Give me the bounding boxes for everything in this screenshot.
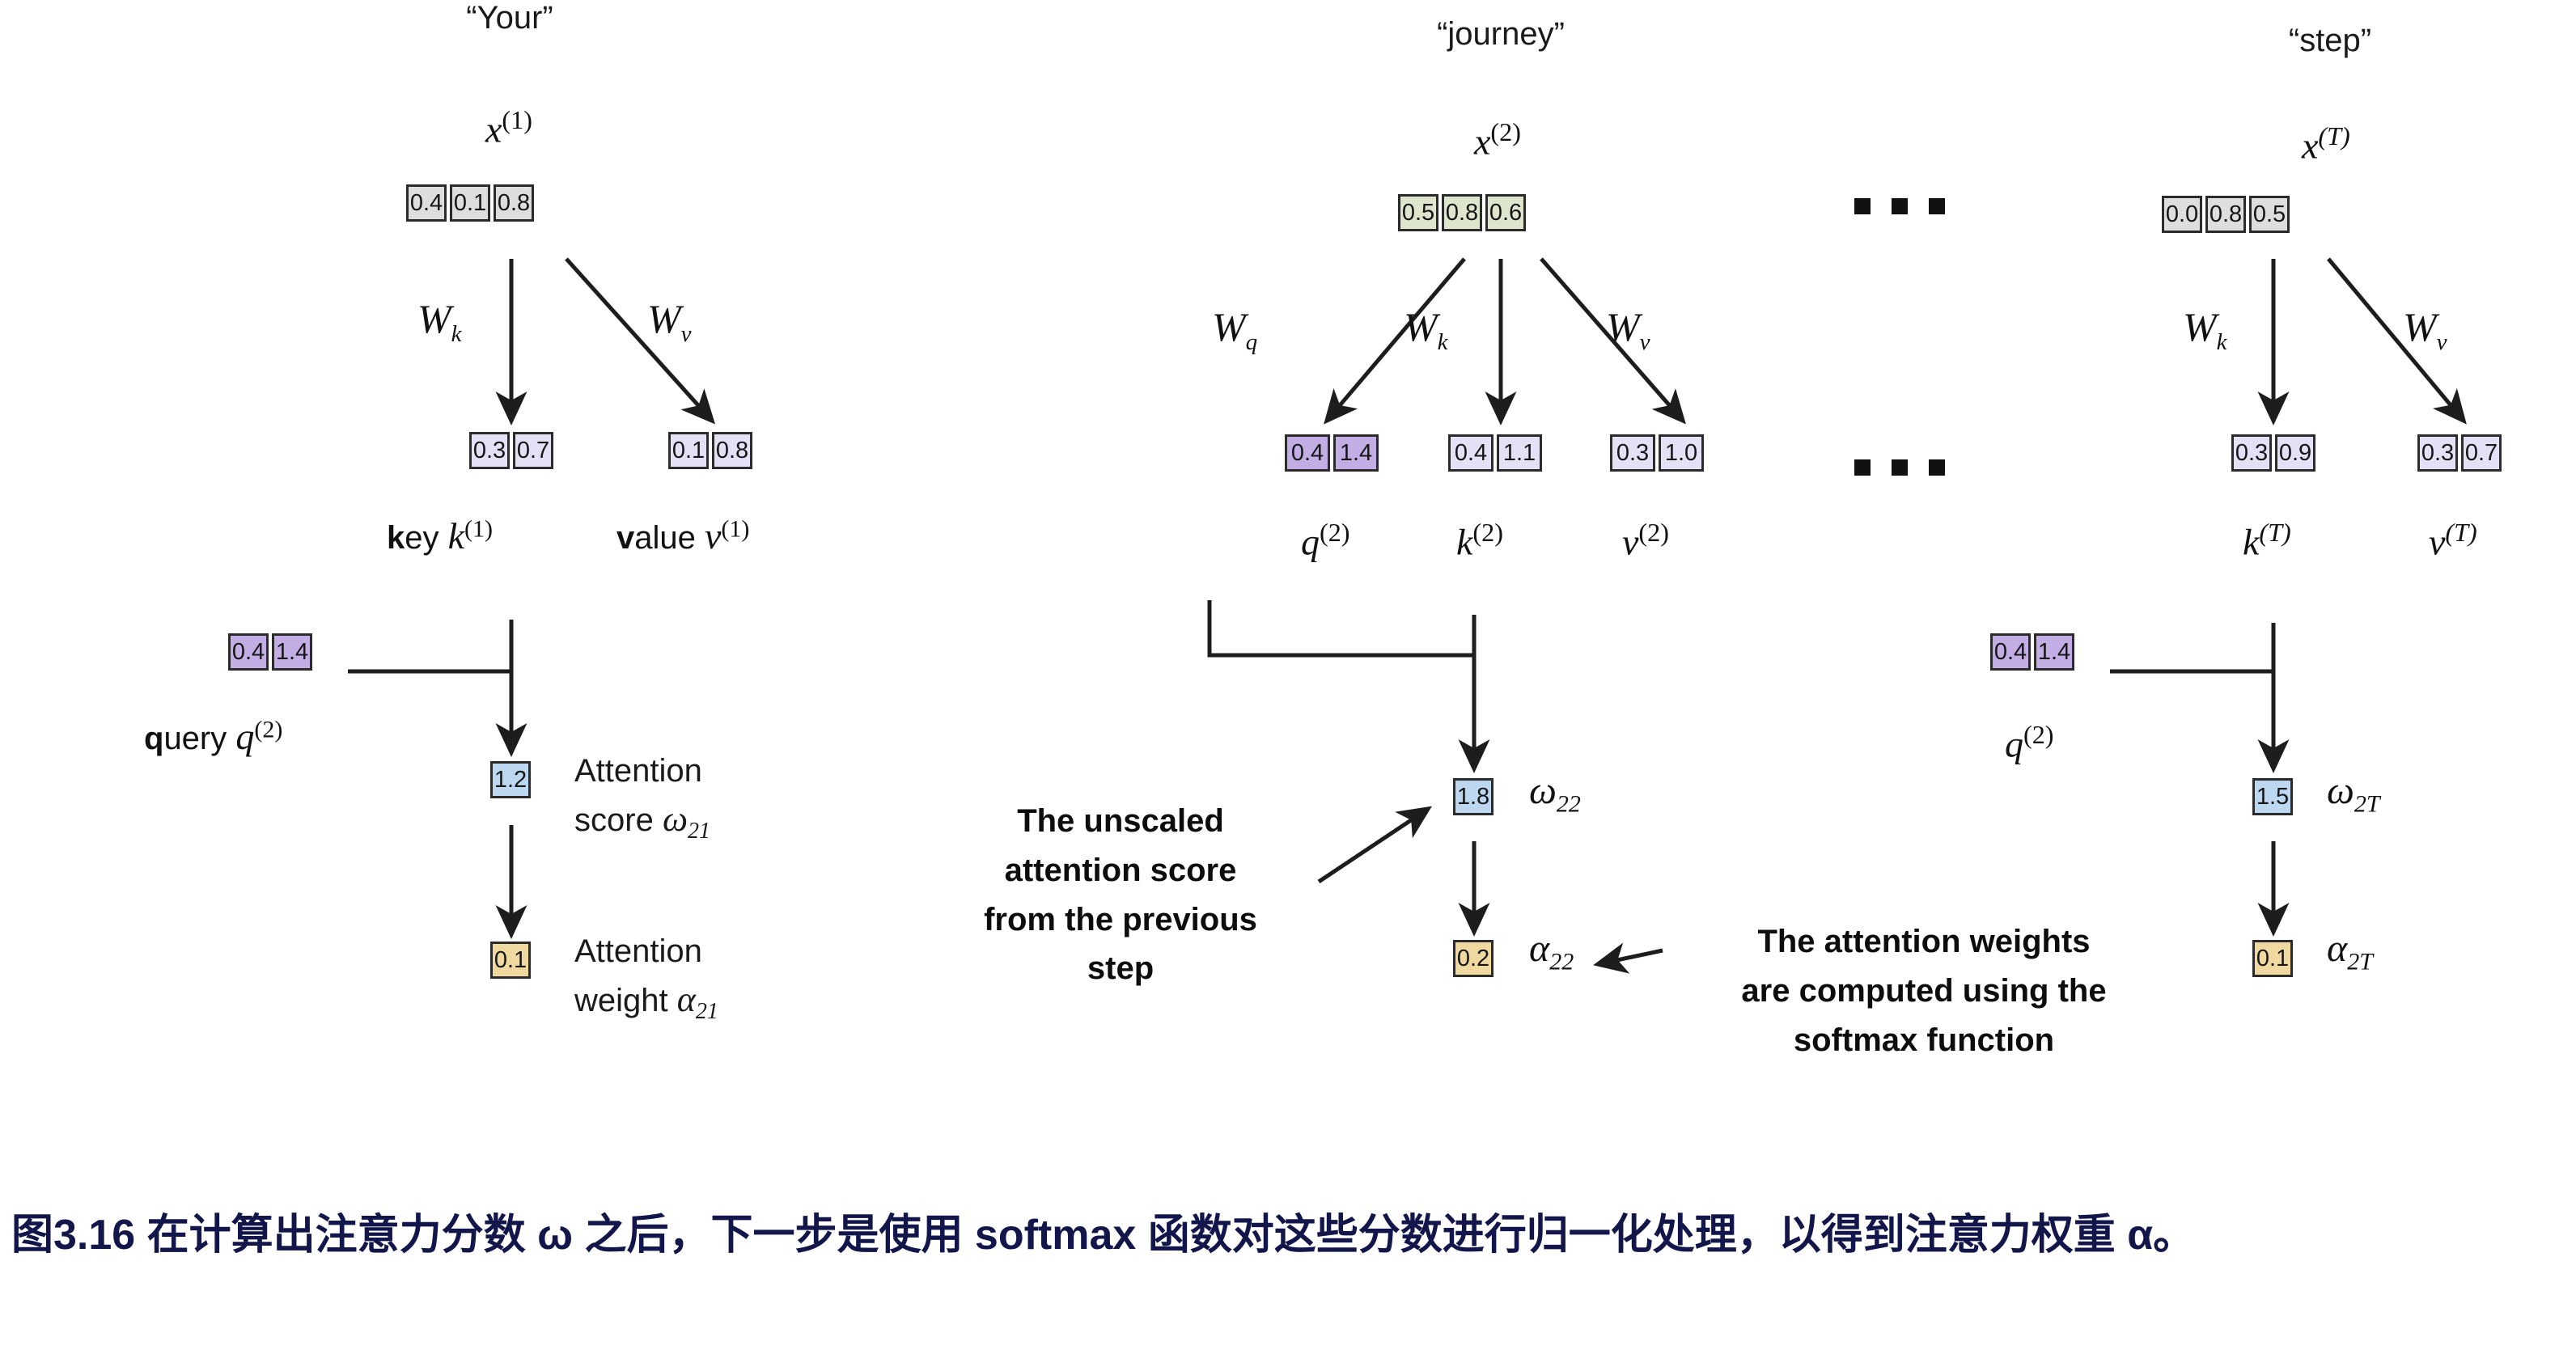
callout-line: The unscaled [930,797,1311,846]
score-cell: 1.2 [490,761,531,798]
input-cell: 0.5 [1398,194,1438,231]
input-vector-T: 0.0 0.8 0.5 [2162,196,2290,233]
ellipsis-icon-top [1854,198,1945,214]
key-cell: 0.4 [1448,434,1493,472]
key-label-1: key k(1) [387,514,493,557]
alpha-label-T: α2T [2327,926,2373,976]
weight-cell: 0.2 [1453,940,1493,977]
callout-line: from the previous [930,895,1311,945]
weight-matrix-wv-1: Wv [647,295,692,348]
callout-line: softmax function [1681,1016,2167,1065]
key-vector-2: 0.4 1.1 [1448,434,1542,472]
query-cell: 0.4 [228,633,269,671]
query-cell: 0.4 [1285,434,1330,472]
omega-label-2: ω22 [1529,768,1581,819]
input-cell: 0.1 [450,184,490,222]
weight-cell: 0.1 [490,942,531,979]
attention-score-box-T: 1.5 [2252,778,2293,815]
key-cell: 0.3 [469,432,510,469]
callout-softmax: The attention weights are computed using… [1681,917,2167,1064]
input-cell: 0.8 [494,184,534,222]
value-cell: 0.7 [2461,434,2502,472]
weight-matrix-wk-1: Wk [417,295,462,348]
input-cell: 0.5 [2249,196,2290,233]
token-word-2: “journey” [1383,16,1618,53]
attention-score-box-1: 1.2 [490,761,531,798]
weight-matrix-wv-T: Wv [2403,303,2447,356]
key-label-T: k(T) [2243,518,2291,563]
ellipsis-dot [1929,198,1945,214]
callout-line: step [930,944,1311,993]
value-vector-T: 0.3 0.7 [2417,434,2502,472]
attention-weight-box-2: 0.2 [1453,940,1493,977]
input-cell: 0.0 [2162,196,2202,233]
callout-line: attention score [930,846,1311,895]
figure-caption: 图3.16 在计算出注意力分数 ω 之后，下一步是使用 softmax 函数对这… [11,1202,2544,1268]
callout-unscaled-score: The unscaled attention score from the pr… [930,797,1311,993]
input-cell: 0.8 [2205,196,2246,233]
attention-score-label-1: Attention score ω21 [574,748,710,848]
score-cell: 1.5 [2252,778,2293,815]
input-cell: 0.8 [1442,194,1482,231]
callout-line: The attention weights [1681,917,2167,967]
attention-weight-box-T: 0.1 [2252,940,2293,977]
value-cell: 0.8 [712,432,752,469]
value-cell: 1.0 [1659,434,1704,472]
query-label-1: query q(2) [144,715,282,758]
query-cell: 1.4 [2034,633,2074,671]
query-cell: 0.4 [1990,633,2031,671]
query-vector-2: 0.4 1.4 [1285,434,1379,472]
key-cell: 0.3 [2231,434,2272,472]
input-symbol-T: x(T) [2302,121,2350,167]
figure-canvas: “Your” x(1) 0.4 0.1 0.8 Wk Wv 0.3 0.7 ke… [0,0,2576,1367]
ellipsis-dot [1854,198,1871,214]
key-vector-T: 0.3 0.9 [2231,434,2315,472]
value-label-1: value v(1) [616,514,749,557]
query-vector-1: 0.4 1.4 [228,633,312,671]
callout-line: are computed using the [1681,967,2167,1016]
query-label-2: q(2) [1301,518,1350,563]
key-label-2: k(2) [1456,518,1503,563]
token-word-1: “Your” [429,0,591,36]
value-cell: 0.1 [668,432,709,469]
key-cell: 0.9 [2275,434,2315,472]
ellipsis-dot [1892,198,1908,214]
input-vector-2: 0.5 0.8 0.6 [1398,194,1526,231]
input-symbol-1: x(1) [485,105,532,150]
ellipsis-dot [1892,459,1908,476]
token-word-T: “step” [2257,23,2403,59]
key-cell: 0.7 [513,432,553,469]
value-vector-1: 0.1 0.8 [668,432,752,469]
weight-cell: 0.1 [2252,940,2293,977]
weight-matrix-wv-2: Wv [1606,303,1650,356]
query-cell: 1.4 [272,633,312,671]
input-vector-1: 0.4 0.1 0.8 [406,184,534,222]
query-cell: 1.4 [1333,434,1379,472]
key-vector-1: 0.3 0.7 [469,432,553,469]
value-cell: 0.3 [2417,434,2458,472]
omega-label-T: ω2T [2327,768,2380,819]
value-label-T: v(T) [2429,518,2477,563]
ellipsis-dot [1929,459,1945,476]
attention-weight-box-1: 0.1 [490,942,531,979]
weight-matrix-wk-2: Wk [1404,303,1448,356]
attention-weight-label-1: Attention weight α21 [574,929,718,1028]
score-cell: 1.8 [1453,778,1493,815]
query-label-T: q(2) [2005,720,2054,765]
value-vector-2: 0.3 1.0 [1610,434,1704,472]
input-cell: 0.6 [1485,194,1526,231]
key-cell: 1.1 [1497,434,1542,472]
weight-matrix-wk-T: Wk [2183,303,2227,356]
weight-matrix-wq-2: Wq [1212,303,1257,356]
input-cell: 0.4 [406,184,447,222]
value-label-2: v(2) [1622,518,1669,563]
input-symbol-2: x(2) [1474,117,1521,163]
query-vector-T: 0.4 1.4 [1990,633,2074,671]
alpha-label-2: α22 [1529,926,1574,976]
ellipsis-icon-bottom [1854,459,1945,476]
value-cell: 0.3 [1610,434,1655,472]
ellipsis-dot [1854,459,1871,476]
attention-score-box-2: 1.8 [1453,778,1493,815]
